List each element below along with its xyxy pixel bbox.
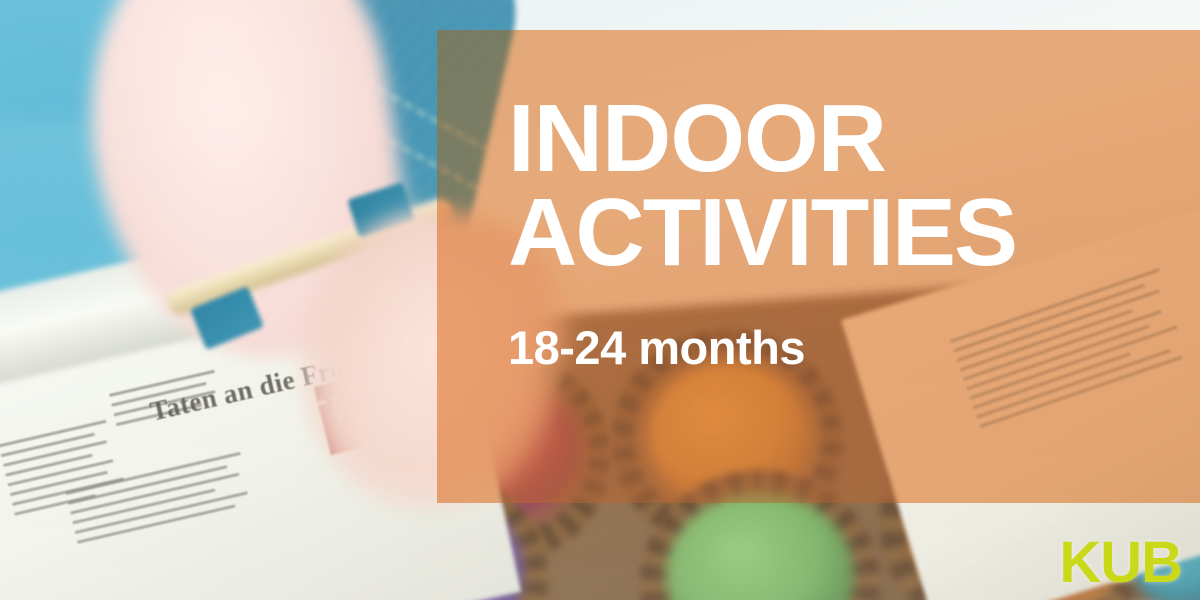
headline-line-2: ACTIVITIES: [508, 186, 1188, 280]
promo-banner: Taten an die Front 123-4 INDOOR ACTIVITI…: [0, 0, 1200, 600]
headline-block: INDOOR ACTIVITIES 18-24 months: [508, 92, 1188, 371]
age-range-subtitle: 18-24 months: [508, 280, 1188, 371]
page-title: INDOOR ACTIVITIES: [508, 92, 1188, 280]
kub-logo[interactable]: KUB: [1059, 534, 1182, 592]
headline-line-1: INDOOR: [508, 85, 886, 192]
